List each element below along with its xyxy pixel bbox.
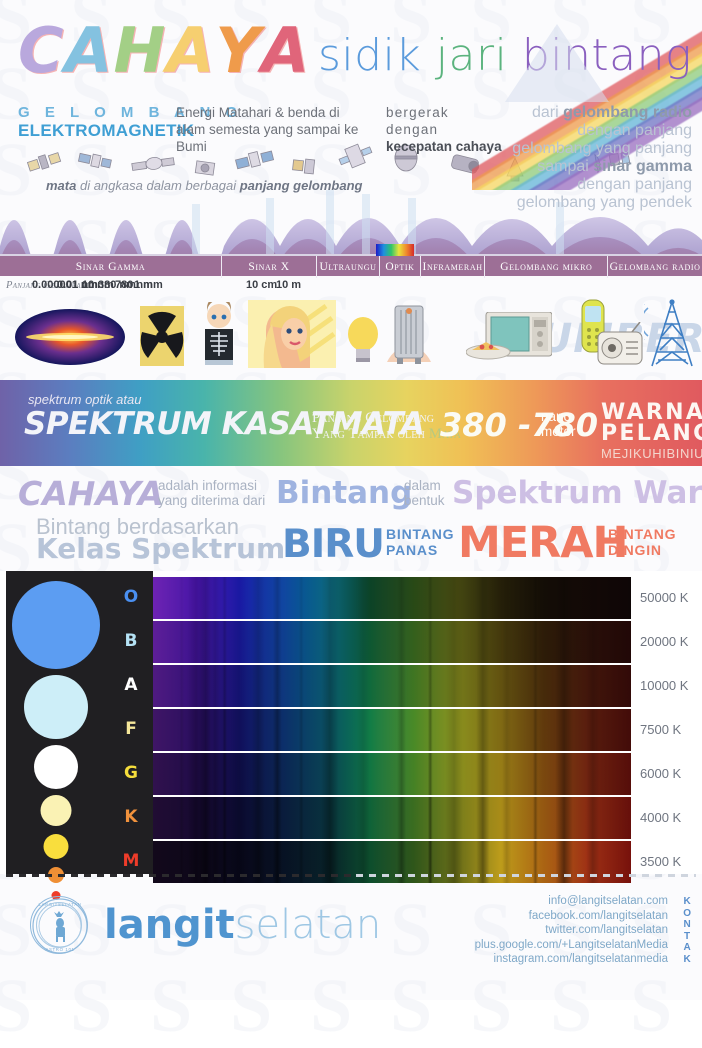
intro-col-speed: bergerak dengan kecepatan cahaya bbox=[386, 104, 506, 155]
kontak-letter: T bbox=[683, 931, 692, 943]
visible-spectrum-band: spektrum optik atau SPEKTRUM KASATMATA P… bbox=[0, 380, 702, 466]
spectrum-strip-G bbox=[153, 753, 631, 795]
mejikuhibiniu-label: MEJIKUHIBINIU bbox=[601, 446, 702, 461]
em-band-inframerah: Inframerah bbox=[420, 256, 485, 278]
kontak-letter: K bbox=[683, 896, 692, 908]
spectrum-strip-B bbox=[153, 621, 631, 663]
spectral-class-letter-M: M bbox=[120, 851, 142, 871]
temperature-label-O: 50000 K bbox=[640, 590, 688, 605]
warna-pelangi-label: WARNAPELANGI bbox=[601, 402, 702, 444]
brand-langit: langit bbox=[104, 902, 235, 948]
divider-left bbox=[6, 874, 356, 877]
wavelength-tick: 1 mm bbox=[134, 279, 163, 291]
stellar-spectra-chart: O50000 KB20000 KA10000 KF7500 KG6000 KK4… bbox=[0, 571, 702, 874]
intro-row: G E L O M B A N G ELEKTROMAGNETIK Energi… bbox=[0, 100, 702, 166]
merah-word: MERAH bbox=[458, 518, 628, 568]
lightbulb-icon bbox=[345, 314, 381, 366]
spectral-class-letter-O: O bbox=[120, 587, 142, 607]
absorption-lines bbox=[153, 709, 631, 751]
em-band-bar: Sinar GammaSinar XUltraunguOptikInframer… bbox=[0, 254, 702, 276]
absorption-lines bbox=[153, 665, 631, 707]
subtitle-word: jari bbox=[436, 30, 508, 81]
em-band-ultraungu: Ultraungu bbox=[316, 256, 379, 278]
title-letter: Y bbox=[215, 14, 261, 87]
kontak-letter: O bbox=[683, 908, 692, 920]
spectral-class-letter-A: A bbox=[120, 675, 142, 695]
star-size-dot-A bbox=[34, 745, 78, 789]
title-letter: A bbox=[65, 14, 114, 87]
temperature-label-A: 10000 K bbox=[640, 678, 688, 693]
visible-mini-spectrum bbox=[376, 244, 415, 256]
bintang-panas-label: BINTANGPANAS bbox=[386, 526, 454, 558]
radio-receiver-icon bbox=[596, 322, 644, 366]
wavelength-unit-label: nanometer bbox=[541, 410, 576, 439]
title-letter: A bbox=[261, 14, 310, 87]
seal-top-text: LANGITSELATAN bbox=[38, 902, 81, 907]
panjang-gelombang-mata-label: Panjang GelombangYang Tampak oleh Mata bbox=[312, 410, 461, 442]
spectrum-strip-A bbox=[153, 665, 631, 707]
spectrum-strip-O bbox=[153, 577, 631, 619]
langitselatan-seal-logo: LANGITSELATAN ASTRO 101 bbox=[30, 896, 88, 954]
infographic-page: SSSSSSSSSSSSSSSSSSSSSSSSSSSSSSSSSSSSSSSS… bbox=[0, 0, 702, 1000]
kontak-letter: A bbox=[683, 942, 692, 954]
kontak-vertical-label: KONTAK bbox=[683, 896, 692, 965]
spektrum-warna-word: Spektrum Warna bbox=[452, 475, 702, 511]
absorption-lines bbox=[153, 621, 631, 663]
contact-list: info@langitselatan.comfacebook.com/langi… bbox=[475, 894, 668, 967]
brand-selatan: selatan bbox=[235, 902, 382, 948]
intro-col-energy: Energi Matahari & benda di alam semesta … bbox=[176, 104, 366, 155]
wavelength-tick: 10 m bbox=[276, 279, 301, 291]
absorption-lines bbox=[153, 753, 631, 795]
seal-bottom-text: ASTRO 101 bbox=[45, 947, 74, 952]
em-band-optik: Optik bbox=[379, 256, 420, 278]
em-band-sinar-x: Sinar X bbox=[221, 256, 316, 278]
bintang-dingin-label: BINTANGDINGIN bbox=[608, 526, 676, 558]
em-band-gelombang-radio: Gelombang radio bbox=[607, 256, 702, 278]
adalah-informasi-text: adalah informasiyang diterima dari bbox=[158, 478, 265, 508]
star-size-dot-O bbox=[12, 581, 100, 669]
xray-body-icon bbox=[196, 302, 242, 368]
temperature-label-B: 20000 K bbox=[640, 634, 688, 649]
intro-col-range: dari gelombang radio dengan panjang gelo… bbox=[512, 104, 692, 212]
kelas-spektrum-text: Kelas Spektrum bbox=[36, 532, 285, 565]
source-icons-row: SUMBER bbox=[0, 298, 702, 380]
contact-line[interactable]: instagram.com/langitselatanmedia bbox=[475, 952, 668, 967]
wavelength-row: Panjang Gelombang 0.000001 nm0.01 nm10 n… bbox=[0, 276, 702, 298]
spectral-class-letter-B: B bbox=[120, 631, 142, 651]
gamma-sky-map-icon bbox=[14, 308, 126, 366]
contact-line[interactable]: info@langitselatan.com bbox=[475, 894, 668, 909]
kecepatan-cahaya-text: kecepatan cahaya bbox=[386, 138, 506, 155]
wavelength-tick: 10 cm bbox=[246, 279, 277, 291]
title-letter: A bbox=[166, 14, 215, 87]
em-band-sinar-gamma: Sinar Gamma bbox=[0, 256, 221, 278]
page-title: CAHAYA bbox=[18, 14, 310, 87]
title-letter: H bbox=[114, 14, 167, 87]
dalam-bentuk-text: dalambentuk bbox=[404, 478, 445, 508]
kontak-letter: K bbox=[683, 954, 692, 966]
sun-tanning-icon bbox=[248, 300, 336, 368]
em-band-gelombang-mikro: Gelombang mikro bbox=[484, 256, 607, 278]
heater-icon bbox=[385, 302, 433, 366]
spectral-class-letter-K: K bbox=[120, 807, 142, 827]
seal-deer-icon: LANGITSELATAN ASTRO 101 bbox=[31, 897, 89, 955]
brand-wordmark: langitselatan bbox=[104, 902, 381, 948]
cahaya-word: CAHAYA bbox=[18, 474, 163, 513]
temperature-label-F: 7500 K bbox=[640, 722, 681, 737]
title-letter: C bbox=[18, 14, 65, 87]
bintang-word: Bintang bbox=[276, 475, 412, 511]
absorption-lines bbox=[153, 577, 631, 619]
divider-right bbox=[356, 874, 696, 877]
temperature-label-K: 4000 K bbox=[640, 810, 681, 825]
spectrum-strip-F bbox=[153, 709, 631, 751]
kontak-letter: N bbox=[683, 919, 692, 931]
contact-line[interactable]: facebook.com/langitselatan bbox=[475, 909, 668, 924]
header: CAHAYA sidik jari bintang bbox=[0, 0, 702, 100]
subtitle-word: sidik bbox=[318, 30, 421, 81]
microwave-oven-icon bbox=[466, 312, 552, 360]
prism-icon bbox=[505, 24, 609, 102]
spektrum-optik-label: spektrum optik atau bbox=[28, 392, 141, 407]
radiation-hazard-icon bbox=[140, 306, 184, 366]
spectral-class-letter-G: G bbox=[120, 763, 142, 783]
temperature-label-M: 3500 K bbox=[640, 854, 681, 869]
bergerak-dengan-text: bergerak dengan bbox=[386, 104, 506, 138]
star-size-dot-B bbox=[24, 675, 88, 739]
temperature-label-G: 6000 K bbox=[640, 766, 681, 781]
eyes-in-space-caption: mata di angkasa dalam berbagai panjang g… bbox=[46, 178, 363, 193]
biru-word: BIRU bbox=[282, 522, 384, 567]
star-size-dot-G bbox=[44, 834, 69, 859]
contact-line[interactable]: twitter.com/langitselatan bbox=[475, 923, 668, 938]
statement-section: CAHAYA adalah informasiyang diterima dar… bbox=[0, 466, 702, 571]
spectral-class-letter-F: F bbox=[120, 719, 142, 739]
footer: LANGITSELATAN ASTRO 101 langitselatan in… bbox=[0, 874, 702, 970]
radio-tower-icon bbox=[644, 298, 700, 368]
star-size-dot-F bbox=[41, 795, 72, 826]
spectrum-strip-K bbox=[153, 797, 631, 839]
contact-line[interactable]: plus.google.com/+LangitselatanMedia bbox=[475, 938, 668, 953]
absorption-lines bbox=[153, 797, 631, 839]
